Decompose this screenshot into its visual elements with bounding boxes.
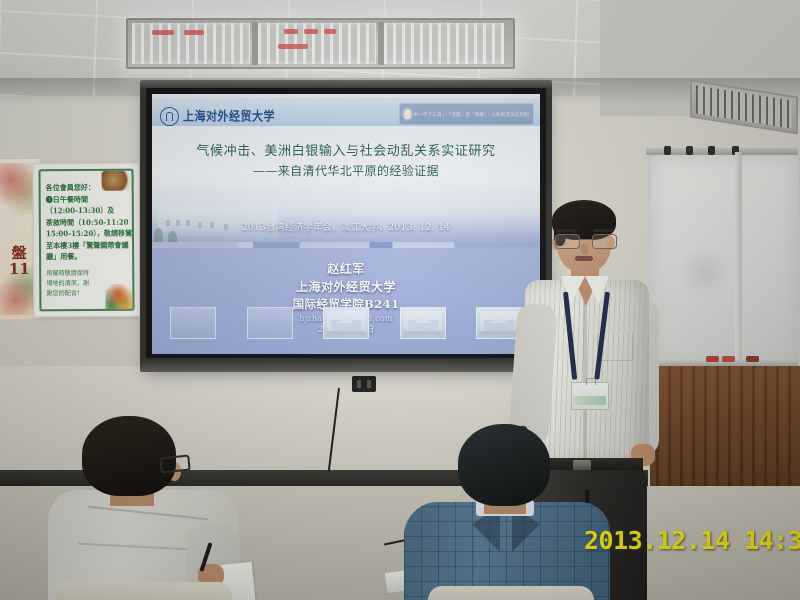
marker-red-icon[interactable]: [722, 356, 735, 362]
whiteboard-smudge: [679, 247, 731, 299]
marker-red-icon[interactable]: [706, 356, 719, 362]
gate-emblem-icon: [160, 107, 179, 126]
presenter-nose: [581, 244, 588, 254]
poster-line: 至本樓3樓「驚聲國際會議: [46, 239, 124, 251]
light-cell: [384, 23, 504, 64]
poster-line: 廳」用餐。: [46, 251, 124, 263]
whiteboard-clip-icon: [708, 146, 715, 155]
badge-color-bar: [574, 396, 606, 405]
slide-header-bar: 上海对外经贸大学 中一不了工具」・「治理」及「風險」・以防制黑灰应的起: [152, 98, 540, 126]
fluorescent-troffer-light: [126, 18, 515, 69]
poster-line: 15:00-15:20），敬請移駕: [46, 228, 124, 240]
poster-line: ❶日午餐時間: [46, 193, 124, 205]
red-tube-icon: [184, 30, 204, 35]
audience-member-note-taking: [58, 416, 278, 600]
lightbulb-icon: [404, 109, 411, 119]
slide-title-line1: 气候冲击、美洲白银输入与社会动乱关系实证研究: [152, 140, 540, 159]
glasses-icon: [159, 454, 191, 473]
light-divider: [378, 22, 384, 65]
thumbnail-blank: [170, 307, 216, 339]
poster-footer-line: 謝您的配合！: [46, 287, 124, 298]
lanyard: [561, 292, 613, 384]
screen-bottom-bar: [140, 358, 552, 372]
thumbnail-blank: [247, 307, 293, 339]
outlet-slot: [367, 380, 371, 388]
slide-title: 气候冲击、美洲白银输入与社会动乱关系实证研究 ——来自清代华北平原的经验证据: [152, 140, 540, 179]
audience-hair: [458, 424, 550, 506]
camera-timestamp: 2013.12.14 14:32: [584, 526, 800, 555]
whiteboard-top-rail: [646, 148, 798, 155]
poster-line: 茶敘時間（10:50-11:20: [46, 216, 124, 228]
audience-hair: [82, 416, 176, 496]
slide-divider-rule: [152, 242, 540, 248]
whiteboard-clip-icon: [664, 146, 671, 155]
thumbnail-campus-photo: [323, 307, 369, 339]
thumbnail-campus-photo: [400, 307, 446, 339]
outlet-slot: [357, 380, 361, 388]
slide-thumbnail-row: [170, 306, 522, 340]
marker-blue-icon[interactable]: [746, 356, 759, 362]
whiteboard-clip-icon: [686, 146, 693, 155]
photograph-scene: 盤11 各位會員您好： ❶日午餐時間 （12:00-13:30）及 茶敘時間（1…: [0, 0, 800, 600]
university-name: 上海对外经贸大学: [183, 107, 275, 125]
poster-line: 各位會員您好：: [46, 182, 124, 194]
red-tube-icon: [284, 29, 298, 34]
red-tube-icon: [278, 44, 308, 49]
presenter-eyebrow: [557, 229, 577, 232]
author-affiliation: 上海对外经贸大学: [152, 278, 540, 295]
poster-back-text: 盤11: [1, 245, 37, 277]
presenter-mouth: [575, 256, 593, 261]
slide-corner-badge: 中一不了工具」・「治理」及「風險」・以防制黑灰应的起: [399, 103, 534, 125]
presenter-eyebrow: [593, 229, 613, 232]
university-logo: 上海对外经贸大学: [160, 104, 275, 128]
whiteboard-right-edge: [735, 152, 742, 366]
badge-text: 中一不了工具」・「治理」及「風險」・以防制黑灰应的起: [414, 112, 529, 117]
notice-poster: 各位會員您好： ❶日午餐時間 （12:00-13:30）及 茶敘時間（10:50…: [32, 163, 140, 318]
wall-power-outlet: [352, 376, 376, 392]
projected-slide: 上海对外经贸大学 中一不了工具」・「治理」及「風險」・以防制黑灰应的起 气候冲击…: [152, 94, 540, 354]
slide-conference-info: 2013台湾经济学年会，淡江大学，2013. 12. 14: [152, 220, 540, 233]
author-name: 赵红军: [152, 260, 540, 277]
red-tube-icon: [304, 29, 318, 34]
poster-footer-line: 用餐時敬請保持: [46, 267, 124, 278]
poster-line: （12:00-13:30）及: [46, 205, 124, 217]
badge-clip-icon: [586, 378, 596, 385]
chair-back[interactable]: [54, 582, 232, 600]
slide-title-line2: ——来自清代华北平原的经验证据: [152, 162, 540, 179]
poster-footer-line: 場地的清潔，謝: [46, 277, 124, 288]
audience-member-seated: [400, 424, 620, 600]
light-divider: [252, 22, 258, 65]
poster-text-block: 各位會員您好： ❶日午餐時間 （12:00-13:30）及 茶敘時間（10:50…: [46, 182, 130, 298]
red-tube-icon: [152, 30, 174, 35]
name-badge: [571, 382, 609, 410]
red-tube-icon: [324, 29, 336, 34]
chair-back[interactable]: [428, 586, 594, 600]
